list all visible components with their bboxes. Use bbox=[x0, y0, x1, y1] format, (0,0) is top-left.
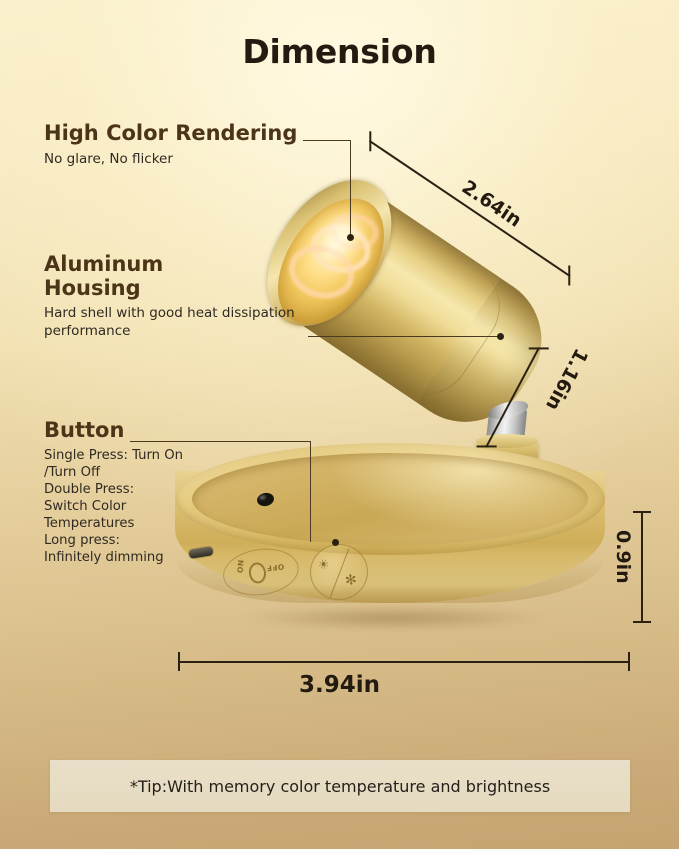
barrel-cap-edge bbox=[400, 269, 518, 412]
callout-line: Long press: bbox=[44, 532, 183, 549]
callout-aluminum-housing: Aluminum Housing Hard shell with good he… bbox=[44, 253, 312, 341]
callout-high-color-rendering: High Color Rendering No glare, No flicke… bbox=[44, 122, 297, 168]
dimension-tick-left bbox=[178, 652, 180, 671]
callout-line: /Turn Off bbox=[44, 464, 183, 481]
dimension-label-base-width: 3.94in bbox=[0, 672, 679, 698]
callout-line: Switch Color bbox=[44, 498, 183, 515]
dimension-tick-end bbox=[568, 265, 570, 285]
tip-text: *Tip:With memory color temperature and b… bbox=[130, 777, 550, 796]
dimension-tick-start bbox=[529, 347, 549, 349]
callout-line: Infinitely dimming bbox=[44, 549, 183, 566]
callout-body: Hard shell with good heat dissipation pe… bbox=[44, 305, 312, 341]
tip-banner: *Tip:With memory color temperature and b… bbox=[50, 760, 630, 812]
callout-line: Single Press: Turn On bbox=[44, 447, 183, 464]
leader-line-button bbox=[130, 441, 311, 442]
leader-line-button-vertical bbox=[310, 441, 311, 542]
dimension-tick-top bbox=[633, 511, 651, 513]
bulb-icon: ☀ bbox=[316, 557, 331, 573]
dimension-line-base-height bbox=[641, 512, 643, 622]
page-title: Dimension bbox=[0, 32, 679, 71]
callout-body: No glare, No flicker bbox=[44, 151, 297, 169]
callout-line: Temperatures bbox=[44, 515, 183, 532]
dimension-line-base-width bbox=[178, 661, 630, 663]
callout-heading-line1: Aluminum bbox=[44, 253, 312, 277]
leader-line-high-color-rendering bbox=[303, 140, 351, 141]
leader-dot-lens bbox=[347, 234, 354, 241]
callout-line: Double Press: bbox=[44, 481, 183, 498]
dimension-tick-bottom bbox=[633, 621, 651, 623]
callout-heading-line2: Housing bbox=[44, 277, 312, 301]
dimension-tick-end bbox=[477, 445, 497, 447]
dimension-tick-start bbox=[369, 131, 371, 151]
dimension-tick-right bbox=[628, 652, 630, 671]
callout-heading: Button bbox=[44, 419, 183, 443]
lamp-base: ON OFF ☀ ✻ bbox=[175, 443, 605, 643]
leader-dot-barrel bbox=[497, 333, 504, 340]
infographic-canvas: Dimension ON OFF bbox=[0, 0, 679, 849]
callout-heading: High Color Rendering bbox=[44, 122, 297, 146]
base-top-surface bbox=[175, 443, 605, 555]
base-shadow bbox=[193, 601, 593, 635]
dimension-label-base-height: 0.9in bbox=[612, 530, 634, 584]
switch-off-label: OFF bbox=[266, 562, 285, 573]
leader-line-aluminum-housing bbox=[308, 336, 500, 337]
button-leader-dot bbox=[332, 539, 339, 546]
switch-on-label: ON bbox=[236, 559, 246, 573]
leader-line-high-color-rendering-vertical bbox=[350, 140, 351, 237]
sun-brightness-icon: ✻ bbox=[344, 573, 357, 588]
base-inner-disc bbox=[192, 453, 588, 545]
